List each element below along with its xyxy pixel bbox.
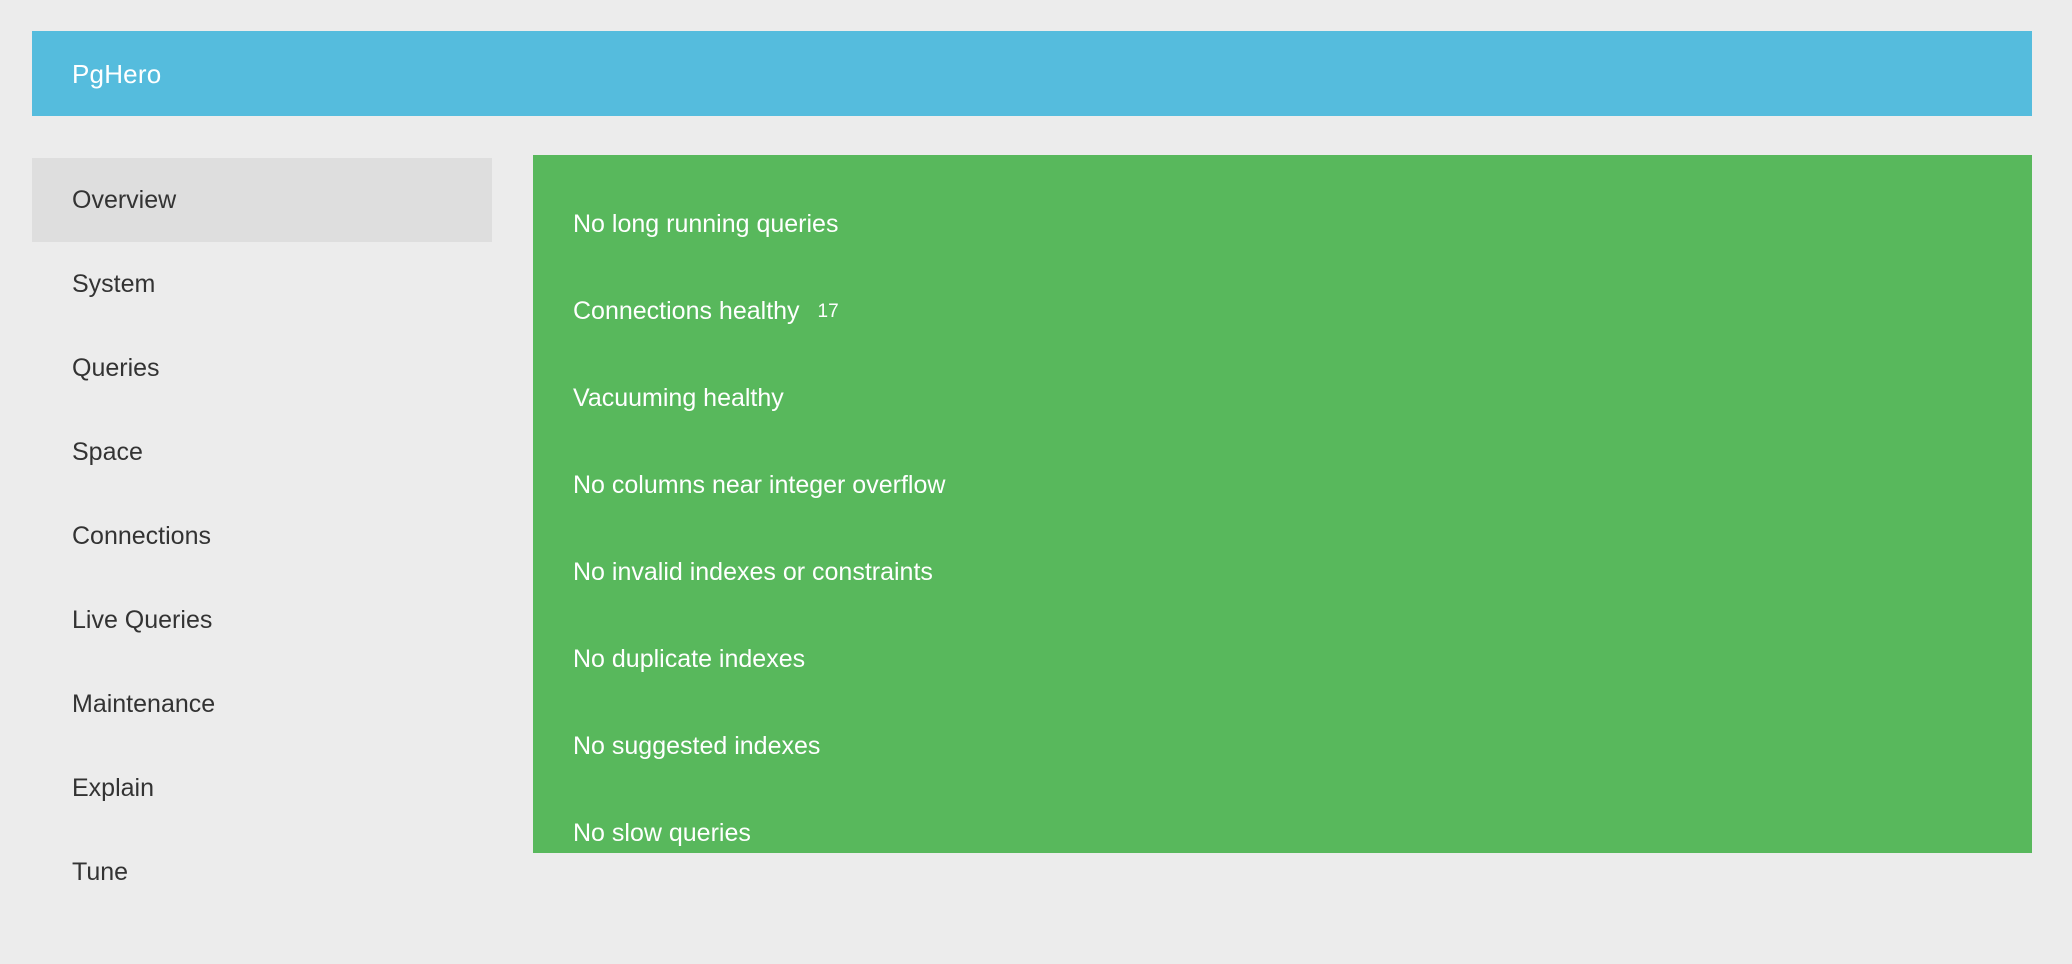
status-check-row: No invalid indexes or constraints (533, 529, 2032, 616)
status-check-label: No duplicate indexes (573, 645, 805, 673)
sidebar-item-space[interactable]: Space (32, 410, 492, 494)
sidebar-item-connections[interactable]: Connections (32, 494, 492, 578)
status-check-row: Connections healthy17 (533, 268, 2032, 355)
sidebar-item-queries[interactable]: Queries (32, 326, 492, 410)
sidebar-item-explain[interactable]: Explain (32, 746, 492, 830)
status-check-label: No suggested indexes (573, 732, 820, 760)
status-check-label: No columns near integer overflow (573, 471, 945, 499)
sidebar-item-live-queries[interactable]: Live Queries (32, 578, 492, 662)
sidebar-nav: OverviewSystemQueriesSpaceConnectionsLiv… (32, 158, 492, 914)
top-navbar: PgHero (32, 31, 2032, 116)
sidebar-item-maintenance[interactable]: Maintenance (32, 662, 492, 746)
status-check-label: Connections healthy (573, 297, 800, 325)
status-check-row: No suggested indexes (533, 703, 2032, 790)
status-panel: No long running queriesConnections healt… (533, 155, 2032, 853)
status-check-row: No long running queries (533, 181, 2032, 268)
app-root: PgHero OverviewSystemQueriesSpaceConnect… (0, 0, 2072, 964)
status-check-label: No long running queries (573, 210, 838, 238)
status-check-row: Vacuuming healthy (533, 355, 2032, 442)
status-check-label: Vacuuming healthy (573, 384, 784, 412)
sidebar-item-overview[interactable]: Overview (32, 158, 492, 242)
status-check-label: No invalid indexes or constraints (573, 558, 933, 586)
status-check-row: No slow queries (533, 790, 2032, 853)
status-check-count: 17 (818, 268, 839, 355)
status-check-row: No columns near integer overflow (533, 442, 2032, 529)
sidebar-item-system[interactable]: System (32, 242, 492, 326)
status-check-label: No slow queries (573, 819, 751, 847)
sidebar-item-tune[interactable]: Tune (32, 830, 492, 914)
brand-logo-link[interactable]: PgHero (72, 61, 161, 87)
status-check-row: No duplicate indexes (533, 616, 2032, 703)
